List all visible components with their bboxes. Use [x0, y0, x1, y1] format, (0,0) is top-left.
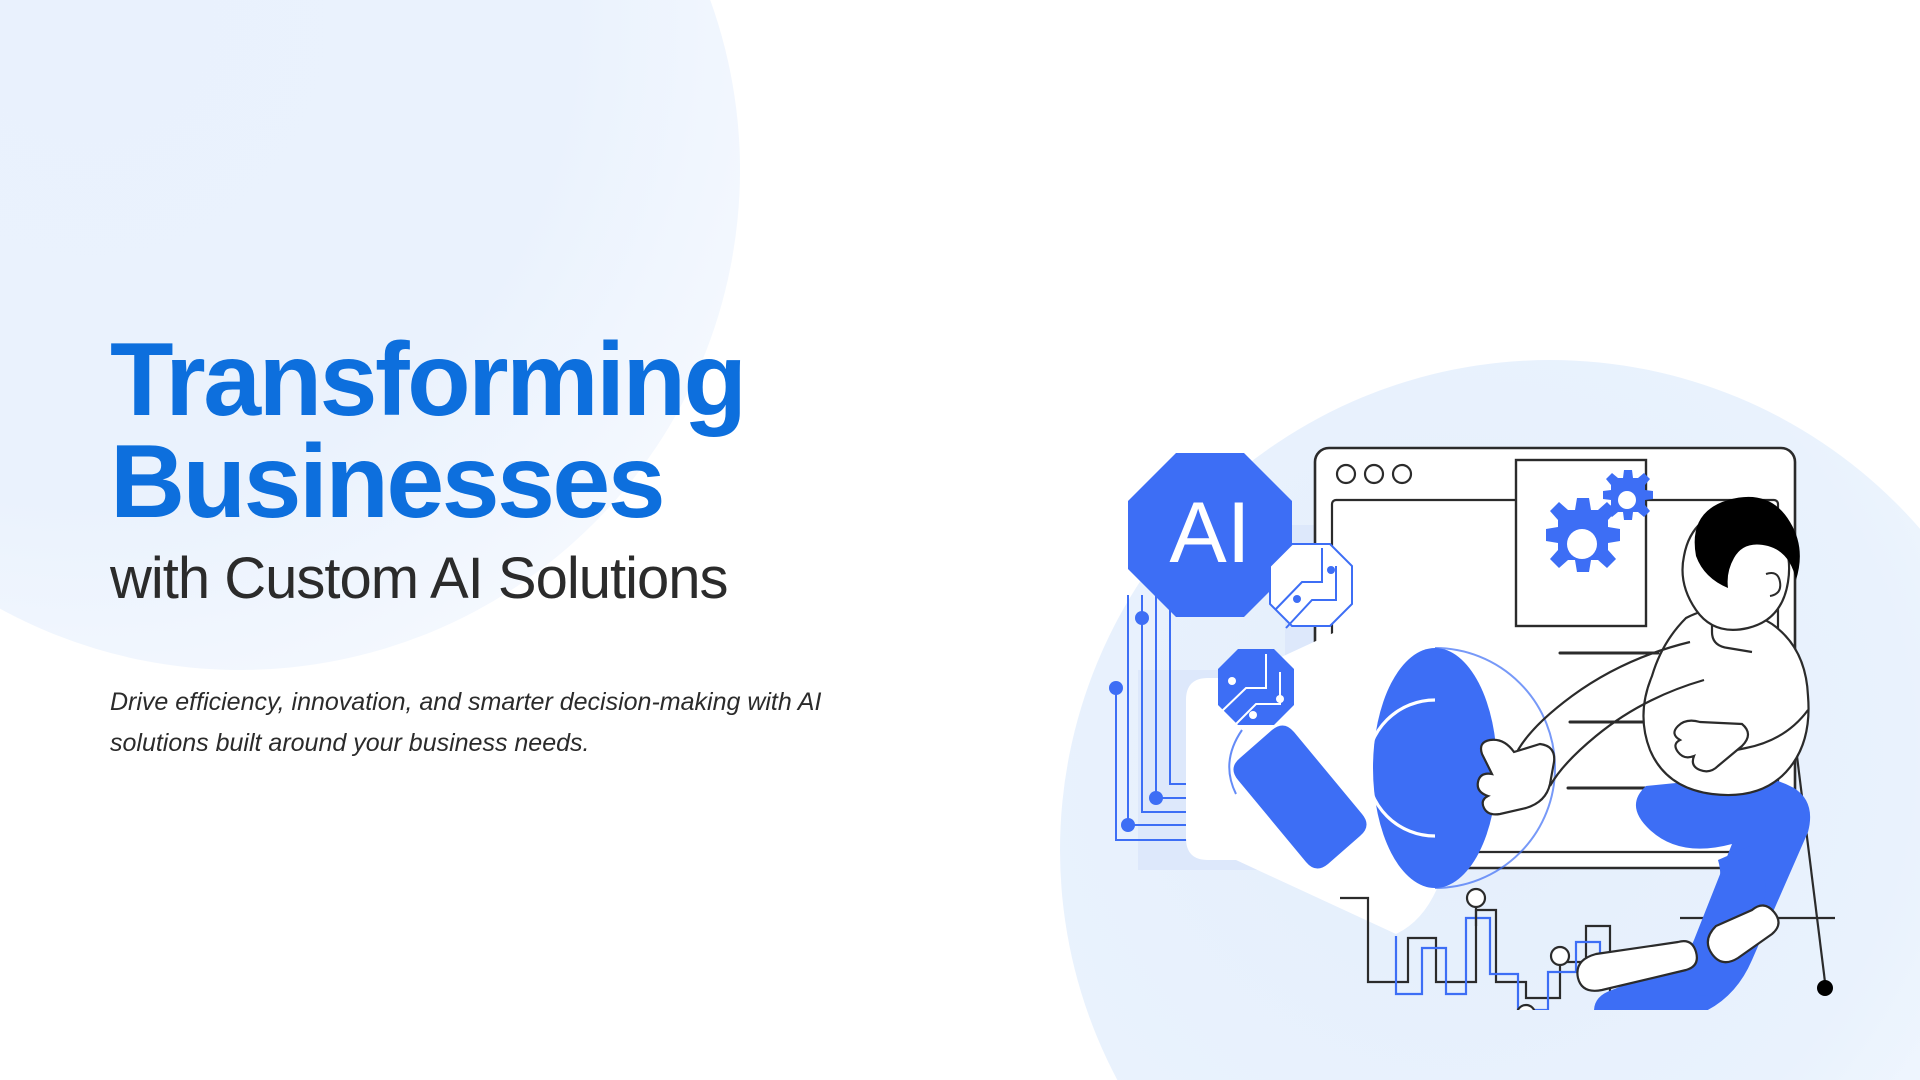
ai-illustration-svg: AI [1090, 370, 1920, 1010]
ai-badge-icon: AI [1128, 453, 1292, 617]
page-title: Transforming Businesses [110, 330, 1030, 534]
chip-octagon-outline-icon [1270, 544, 1352, 628]
hero-description: Drive efficiency, innovation, and smarte… [110, 682, 870, 763]
gear-icon-small [1603, 470, 1653, 520]
hero-banner: Transforming Businesses with Custom AI S… [0, 0, 1920, 1080]
hero-illustration: AI [1090, 370, 1920, 1010]
ai-badge-label: AI [1169, 485, 1250, 581]
page-subtitle: with Custom AI Solutions [110, 548, 1030, 611]
chip-octagon-filled-icon [1218, 649, 1294, 728]
hero-copy: Transforming Businesses with Custom AI S… [110, 330, 1030, 763]
gear-card [1516, 460, 1653, 626]
